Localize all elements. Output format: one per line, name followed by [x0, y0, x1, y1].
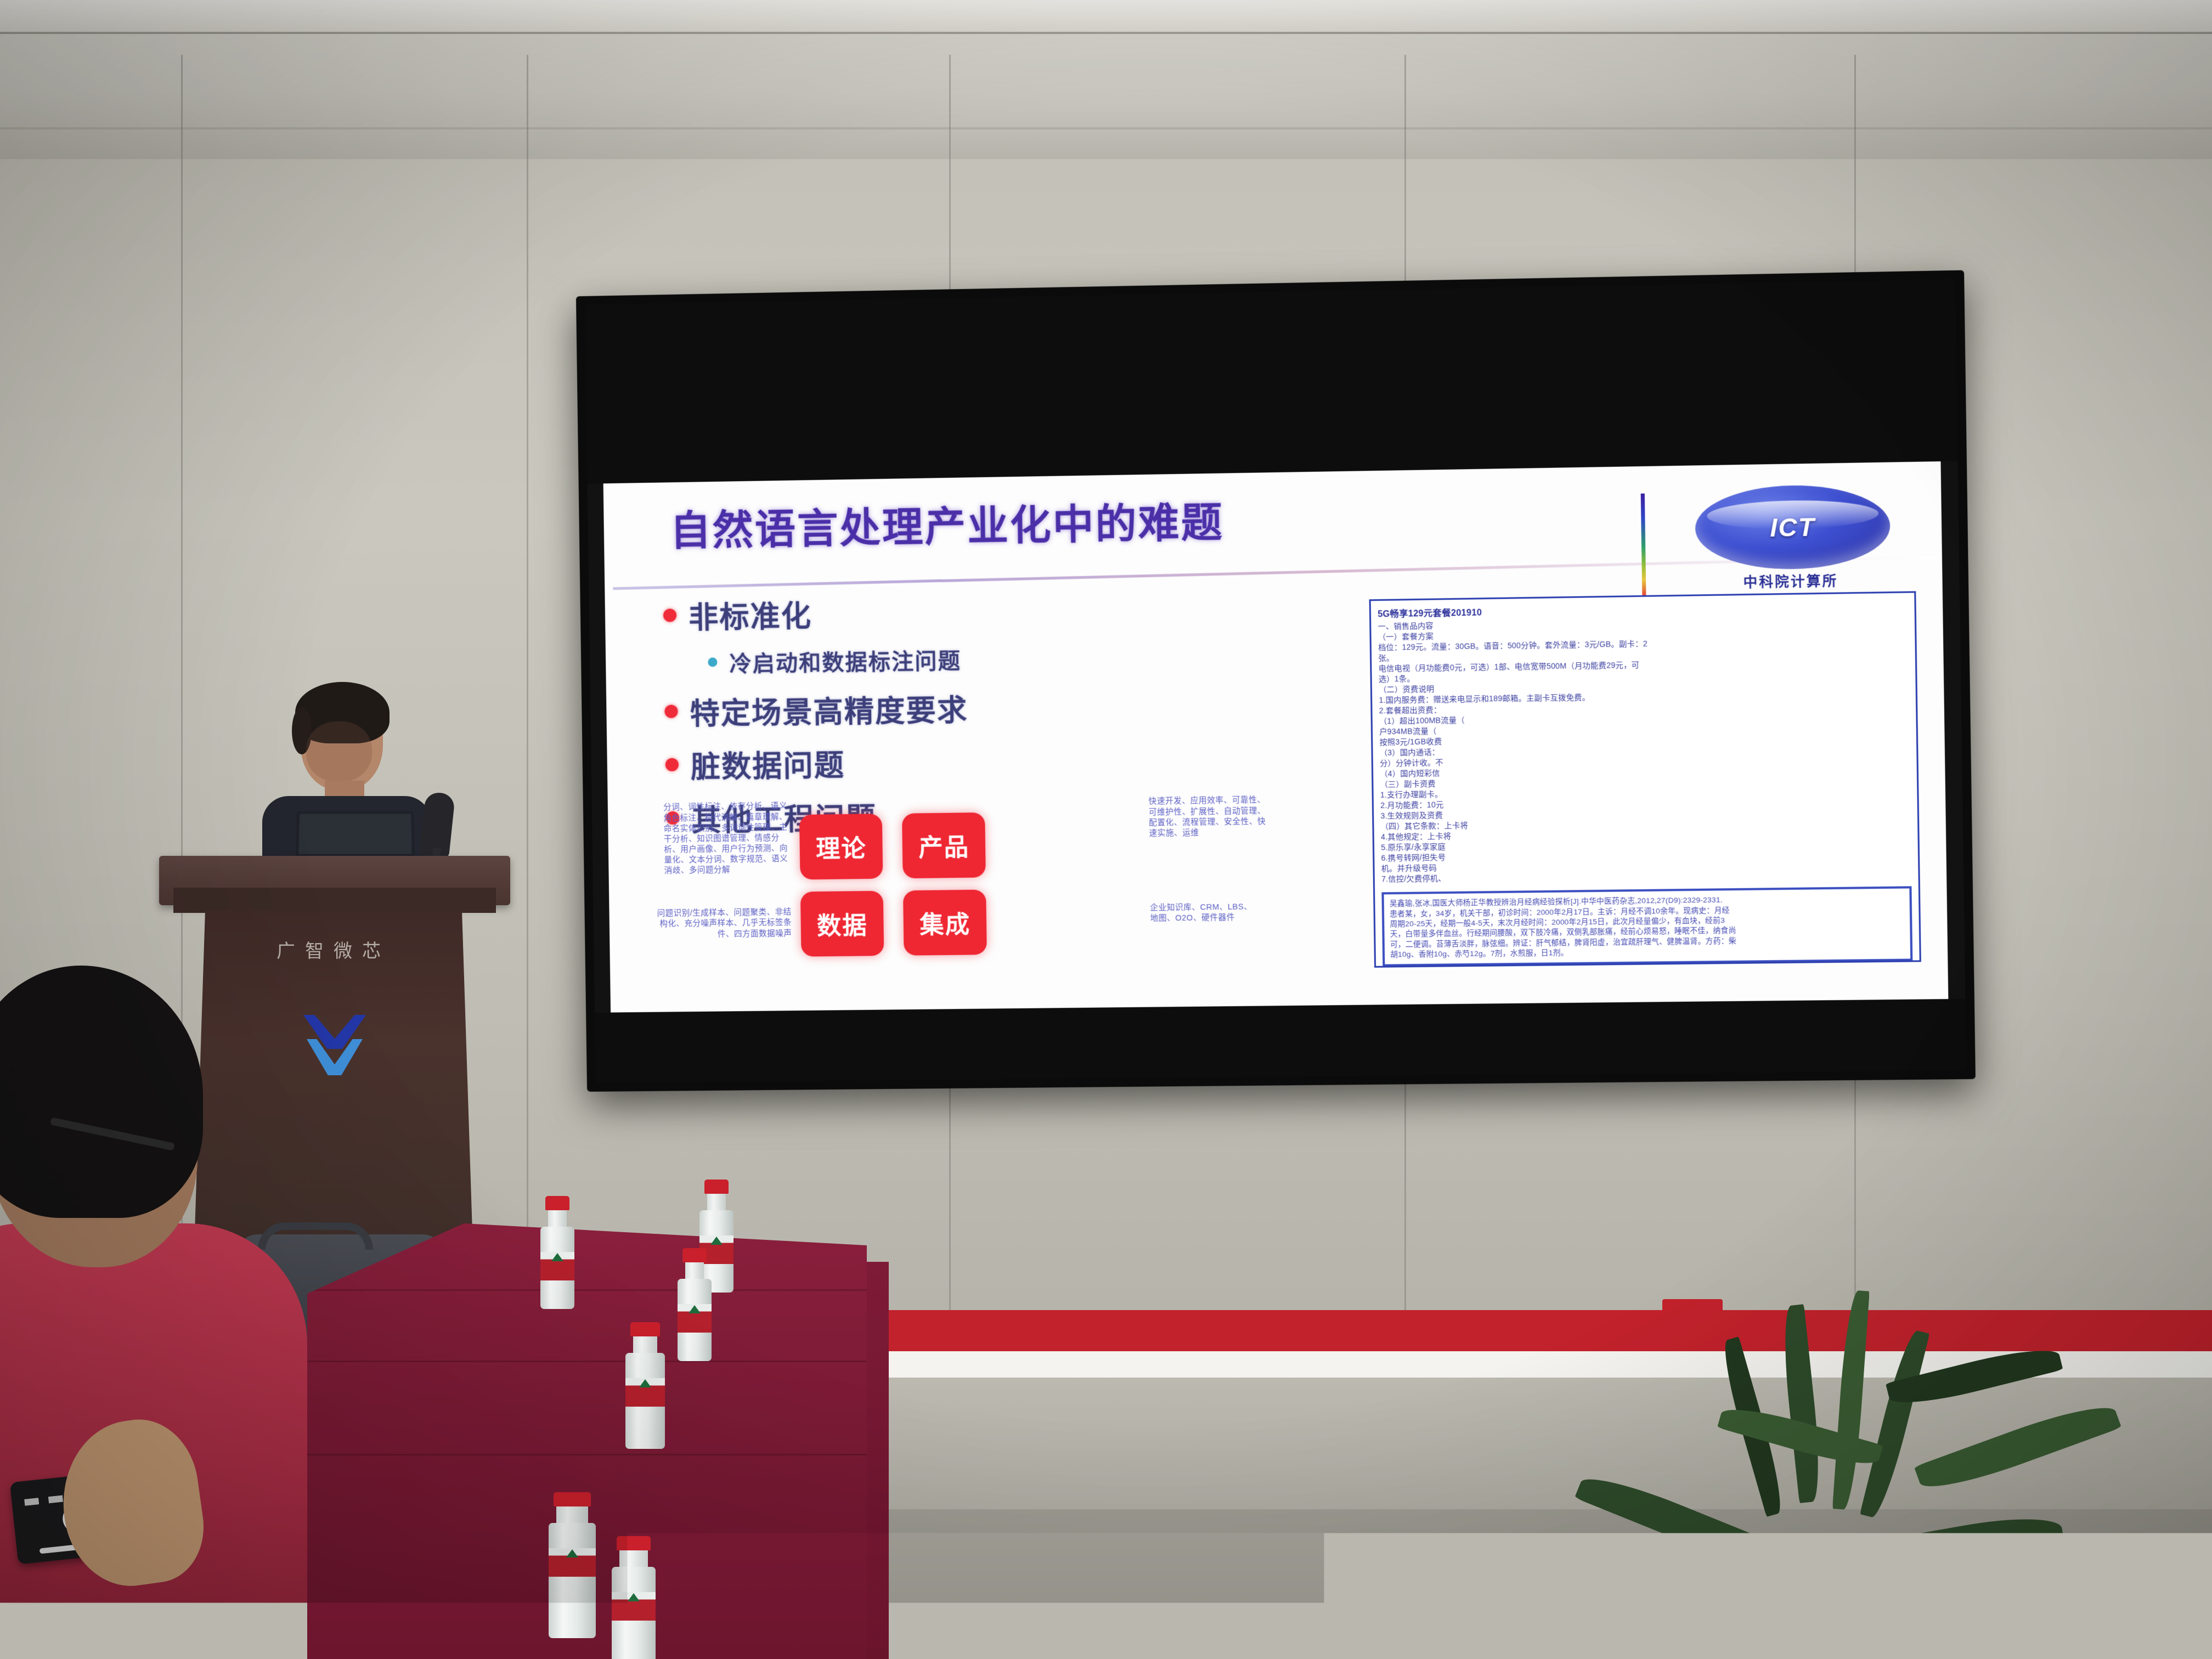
plant-leaf [1860, 1328, 1929, 1520]
plant-leaf [1767, 1591, 1934, 1659]
ict-chinese-name: 中科院计算所 [1690, 569, 1891, 592]
plant-leaf [1779, 1304, 1824, 1503]
keyword-column-bottom-right: 企业知识库、CRM、LBS、地图、O2O、硬件器件 [1150, 902, 1257, 924]
bottle-label-mark [628, 1593, 640, 1601]
bottle-label-mark [689, 1305, 701, 1313]
water-bottle[interactable] [612, 1536, 656, 1659]
document-inner-box: 吴鑫瑜,张冰,国医大师杨正华教授辨治月经病经验探析[J].中华中医药杂志,201… [1381, 887, 1912, 967]
document-body: 一、销售品内容（一）套餐方案档位：129元。流量：30GB。语音：500分钟。套… [1378, 613, 1911, 885]
bullet-dot-icon [663, 609, 676, 622]
bottle-label-mark [639, 1379, 651, 1387]
table-fold [307, 1361, 867, 1362]
foreground-person-hair [0, 966, 203, 1218]
bottle-body [540, 1227, 574, 1309]
bottle-cap [617, 1536, 651, 1550]
bottle-body [549, 1523, 596, 1638]
bullet-label: 特定场景高精度要求 [690, 686, 968, 733]
bullet-label: 冷启动和数据标注问题 [729, 643, 961, 678]
bullet-label: 非标准化 [689, 591, 812, 637]
water-bottle[interactable] [625, 1322, 665, 1449]
bottle-cap [682, 1248, 707, 1262]
slide-title: 自然语言处理产业化中的难题 [670, 489, 1224, 557]
ict-acronym: ICT [1695, 484, 1891, 571]
keyword-column-top-left: 分词、词性标注、依存分析、语义角色标注、指代消解、篇章理解、命名实体识别、多词词… [663, 802, 791, 877]
bottle-body [625, 1353, 665, 1449]
bullet-dot-icon [665, 758, 679, 771]
water-bottle[interactable] [678, 1248, 712, 1361]
table-fold [307, 1454, 867, 1455]
document-panel: 5G畅享129元套餐201910 一、销售品内容（一）套餐方案档位：129元。流… [1369, 591, 1921, 968]
bottle-neck [556, 1506, 588, 1523]
presentation-slide: 自然语言处理产业化中的难题 ICT 中科院计算所 INSTITUTE OF CO… [603, 461, 1949, 1013]
bottle-cap [554, 1492, 591, 1506]
letterbox-top [585, 279, 1957, 484]
document-inner-body: 吴鑫瑜,张冰,国医大师杨正华教授辨治月经病经验探析[J].中华中医药杂志,201… [1390, 893, 1904, 960]
table-fold [307, 1289, 867, 1291]
w-logo-icon [299, 1015, 370, 1081]
keyword-column-top-right: 快速开发、应用效率、可靠性、可维护性、扩展性、自动管理、配置化、流程管理、安全性… [1148, 795, 1269, 839]
bottle-label-mark [551, 1253, 563, 1261]
bottle-neck [633, 1336, 657, 1353]
bottle-neck [685, 1262, 704, 1279]
bottle-neck [707, 1194, 726, 1210]
potted-plant [1459, 1284, 2212, 1659]
bullet-label: 脏数据问题 [690, 741, 845, 786]
ceiling-line-2 [0, 127, 2212, 129]
bullet-item-sub: 冷启动和数据标注问题 [708, 639, 1248, 678]
bottle-label-mark [566, 1549, 578, 1558]
concept-box-row: 理论 产品 [799, 810, 1145, 879]
laptop-screen [296, 811, 415, 857]
letterbox-bottom [595, 999, 1966, 1083]
concept-box-integration[interactable]: 集成 [903, 889, 987, 955]
wall-seam [527, 55, 528, 1344]
bullet-item: 脏数据问题 [665, 735, 1250, 786]
conference-room-photo: 自然语言处理产业化中的难题 ICT 中科院计算所 INSTITUTE OF CO… [0, 0, 2212, 1659]
bottle-body [678, 1279, 712, 1361]
bottle-cap [630, 1322, 660, 1336]
bullet-item: 特定场景高精度要求 [664, 682, 1249, 733]
ceiling-line-1 [0, 32, 2212, 34]
ceiling-strip [0, 0, 2212, 33]
bullet-item: 非标准化 [663, 585, 1248, 637]
concept-box-data[interactable]: 数据 [800, 890, 884, 956]
bottle-label-mark [710, 1237, 723, 1245]
concept-box-theory[interactable]: 理论 [799, 814, 883, 879]
speaker-face-shading [306, 721, 372, 782]
podium-label: 广智微芯 [191, 936, 476, 963]
ict-oval-icon: ICT [1695, 484, 1891, 571]
bottle-body [612, 1567, 656, 1659]
keyword-column-bottom-left: 问题识别/生成样本、问题聚类、非结构化、充分噪声样本、几乎无标签条件、四方面数据… [657, 907, 792, 940]
podium-top-edge [173, 888, 496, 913]
concept-box-row: 数据 集成 [800, 888, 1147, 957]
sub-bullet-dot-icon [708, 658, 717, 667]
plant-leaf [1832, 1290, 1870, 1510]
water-bottle[interactable] [540, 1196, 574, 1309]
wall-display: 自然语言处理产业化中的难题 ICT 中科院计算所 INSTITUTE OF CO… [576, 270, 1976, 1092]
plant-leaf [1869, 1509, 2065, 1581]
bullet-dot-icon [664, 705, 678, 718]
concept-box-product[interactable]: 产品 [902, 812, 986, 878]
bottle-cap [704, 1180, 729, 1194]
foreground-audience-member [0, 966, 307, 1659]
bottle-cap [545, 1196, 569, 1210]
bottle-neck [548, 1210, 567, 1227]
bottle-neck [619, 1550, 648, 1567]
plant-leaf [1914, 1396, 2121, 1499]
water-bottle[interactable] [549, 1492, 596, 1638]
rainbow-bar-icon [1641, 493, 1646, 605]
concept-box-grid: 理论 产品 数据 集成 [799, 810, 1147, 969]
